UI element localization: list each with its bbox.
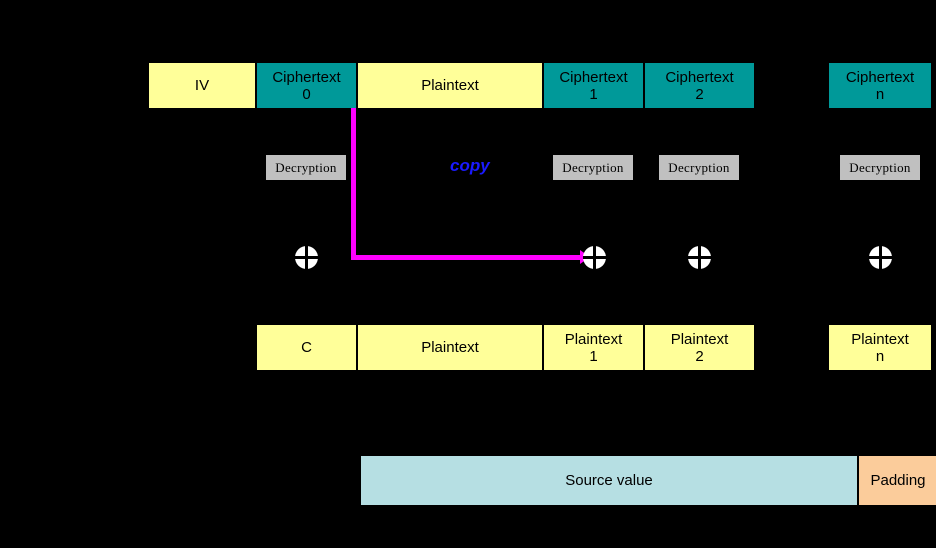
block-ciphertext-0: Ciphertext 0: [256, 62, 357, 109]
block-result-plaintext: Plaintext: [357, 324, 543, 371]
block-plaintext-top: Plaintext: [357, 62, 543, 109]
block-result-plaintext-1: Plaintext 1: [543, 324, 644, 371]
xor-icon-n: [869, 246, 892, 269]
block-ciphertext-2: Ciphertext 2: [644, 62, 755, 109]
block-result-c: C: [256, 324, 357, 371]
block-padding: Padding: [858, 455, 936, 506]
xor-icon-2: [688, 246, 711, 269]
copy-arrow-vertical-segment: [351, 108, 356, 260]
block-source-value: Source value: [360, 455, 858, 506]
block-ciphertext-n: Ciphertext n: [828, 62, 932, 109]
copy-label: copy: [450, 156, 490, 176]
decryption-box-n: Decryption: [840, 155, 920, 180]
xor-icon-1: [583, 246, 606, 269]
diagram-canvas: IV Ciphertext 0 Plaintext Ciphertext 1 C…: [0, 0, 936, 548]
block-result-plaintext-2: Plaintext 2: [644, 324, 755, 371]
xor-icon-0: [295, 246, 318, 269]
decryption-box-0: Decryption: [266, 155, 346, 180]
block-iv: IV: [148, 62, 256, 109]
decryption-box-2: Decryption: [659, 155, 739, 180]
block-result-plaintext-n: Plaintext n: [828, 324, 932, 371]
block-ciphertext-1: Ciphertext 1: [543, 62, 644, 109]
copy-arrow-horizontal-segment: [351, 255, 587, 260]
decryption-box-1: Decryption: [553, 155, 633, 180]
